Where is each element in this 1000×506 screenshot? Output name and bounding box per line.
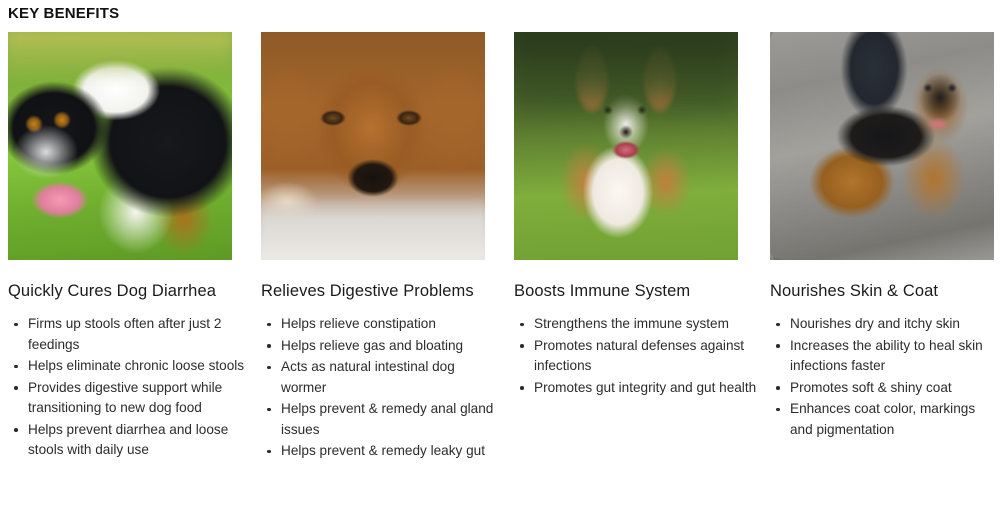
list-item: Nourishes dry and itchy skin: [770, 314, 1000, 335]
list-item: Promotes natural defenses against infect…: [514, 336, 759, 377]
benefit-title-4: Nourishes Skin & Coat: [770, 280, 1000, 302]
list-item: Strengthens the immune system: [514, 314, 759, 335]
list-item: Provides digestive support while transit…: [8, 378, 246, 419]
benefit-bullets-4: Nourishes dry and itchy skin Increases t…: [770, 314, 1000, 440]
list-item: Enhances coat color, markings and pigmen…: [770, 399, 1000, 440]
list-item: Increases the ability to heal skin infec…: [770, 336, 1000, 377]
benefit-bullets-3: Strengthens the immune system Promotes n…: [514, 314, 759, 398]
benefit-title-2: Relieves Digestive Problems: [261, 280, 506, 302]
benefit-image-2: [261, 32, 485, 260]
key-benefits-section: KEY BENEFITS Quickly Cures Dog Diarrhea …: [0, 0, 1000, 506]
benefits-grid: Quickly Cures Dog Diarrhea Firms up stoo…: [0, 32, 1000, 463]
benefit-title-3: Boosts Immune System: [514, 280, 759, 302]
dog-photo-resting-icon: [261, 32, 485, 260]
list-item: Promotes soft & shiny coat: [770, 378, 1000, 399]
list-item: Acts as natural intestinal dog wormer: [261, 357, 503, 398]
benefit-bullets-2: Helps relieve constipation Helps relieve…: [261, 314, 506, 462]
dog-photo-tricolor-icon: [8, 32, 232, 260]
list-item: Helps relieve gas and bloating: [261, 336, 503, 357]
benefit-title-1: Quickly Cures Dog Diarrhea: [8, 280, 253, 302]
benefit-column-4: Nourishes Skin & Coat Nourishes dry and …: [759, 32, 1000, 463]
benefit-column-2: Relieves Digestive Problems Helps reliev…: [253, 32, 506, 463]
benefit-bullets-1: Firms up stools often after just 2 feedi…: [8, 314, 253, 461]
benefit-image-4: [770, 32, 994, 260]
section-heading: KEY BENEFITS: [8, 4, 119, 24]
benefit-column-3: Boosts Immune System Strengthens the imm…: [506, 32, 759, 463]
dog-photo-corgi-icon: [514, 32, 738, 260]
list-item: Helps eliminate chronic loose stools: [8, 356, 246, 377]
list-item: Helps prevent & remedy leaky gut: [261, 441, 503, 462]
list-item: Firms up stools often after just 2 feedi…: [8, 314, 246, 355]
dog-photo-shepherd-icon: [770, 32, 994, 260]
list-item: Helps relieve constipation: [261, 314, 503, 335]
list-item: Promotes gut integrity and gut health: [514, 378, 759, 399]
benefit-image-3: [514, 32, 738, 260]
benefit-column-1: Quickly Cures Dog Diarrhea Firms up stoo…: [0, 32, 253, 463]
list-item: Helps prevent diarrhea and loose stools …: [8, 420, 246, 461]
benefit-image-1: [8, 32, 232, 260]
list-item: Helps prevent & remedy anal gland issues: [261, 399, 503, 440]
